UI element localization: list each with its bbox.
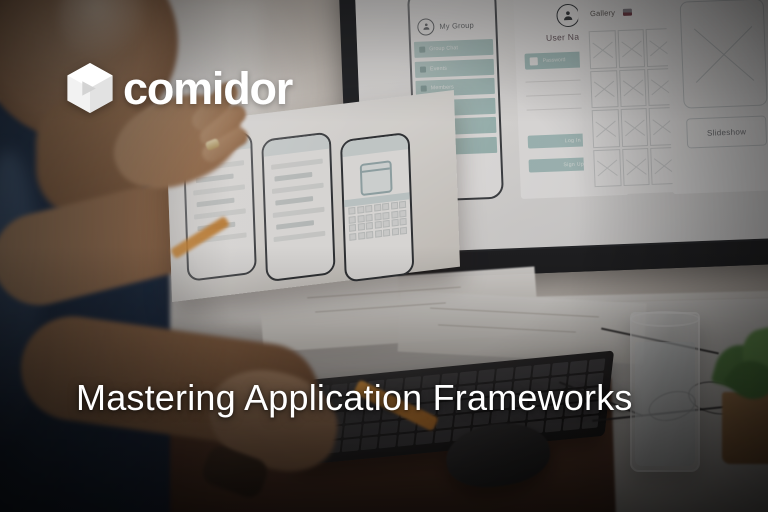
brand-logo: comidor bbox=[66, 62, 292, 114]
cube-hexagon-logo-icon bbox=[66, 62, 114, 114]
hero-banner: My Group Group Chat Events Members Photo… bbox=[0, 0, 768, 512]
brand-wordmark: comidor bbox=[123, 66, 292, 111]
page-title: Mastering Application Frameworks bbox=[76, 378, 708, 418]
